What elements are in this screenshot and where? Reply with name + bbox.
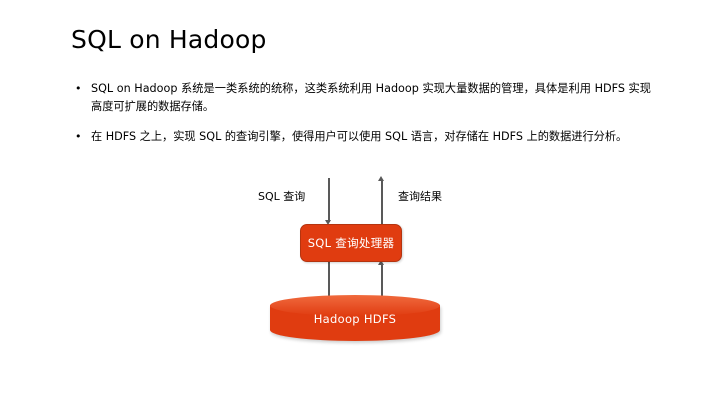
architecture-diagram: SQL 查询 查询结果 SQL 查询处理器 Hadoop HDFS bbox=[0, 170, 711, 370]
bullet-list: • SQL on Hadoop 系统是一类系统的统称，这类系统利用 Hadoop… bbox=[71, 80, 651, 158]
bullet-marker-icon: • bbox=[75, 128, 82, 146]
hadoop-hdfs-label: Hadoop HDFS bbox=[270, 312, 440, 326]
diagram-label-sql-query: SQL 查询 bbox=[258, 188, 305, 204]
arrow-sql-query-in-line bbox=[328, 178, 330, 222]
arrow-query-result-out-head-icon bbox=[378, 176, 384, 181]
diagram-label-query-result: 查询结果 bbox=[398, 188, 442, 204]
arrow-query-result-out-line bbox=[381, 180, 383, 224]
slide-canvas: SQL on Hadoop • SQL on Hadoop 系统是一类系统的统称… bbox=[0, 0, 711, 400]
list-item-text: 在 HDFS 之上，实现 SQL 的查询引擎，使得用户可以使用 SQL 语言，对… bbox=[91, 128, 651, 146]
page-title: SQL on Hadoop bbox=[71, 26, 651, 55]
list-item: • 在 HDFS 之上，实现 SQL 的查询引擎，使得用户可以使用 SQL 语言… bbox=[71, 128, 651, 146]
bullet-marker-icon: • bbox=[75, 80, 82, 98]
list-item-text: SQL on Hadoop 系统是一类系统的统称，这类系统利用 Hadoop 实… bbox=[91, 80, 651, 116]
sql-query-processor-node: SQL 查询处理器 bbox=[300, 224, 402, 262]
list-item: • SQL on Hadoop 系统是一类系统的统称，这类系统利用 Hadoop… bbox=[71, 80, 651, 116]
hadoop-hdfs-node: Hadoop HDFS bbox=[270, 295, 440, 343]
